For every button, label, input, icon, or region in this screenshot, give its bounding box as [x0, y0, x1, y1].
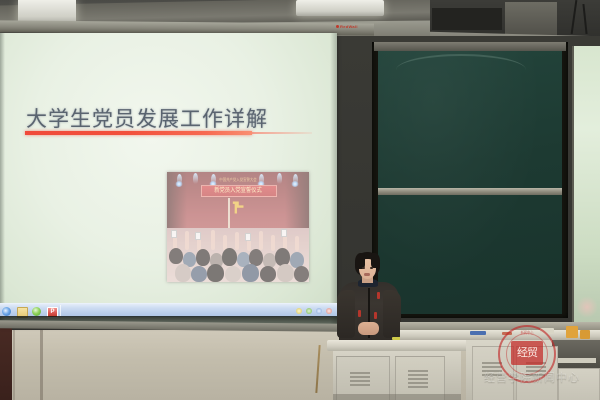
slide-photo: 中国共产党入党宣誓大会 新党员入党宣誓仪式: [167, 172, 309, 282]
screen-brand-logo: RedWall: [336, 24, 358, 29]
presenter-arm-left: [337, 290, 355, 338]
media-icon: [32, 307, 41, 316]
photo-banner-top-text: 中国共产党入党宣誓大会: [206, 177, 271, 183]
podium-floor-shadow: [333, 394, 461, 400]
lecture-hall-photo: RedWall 大学生党员发展工作详解 中国共产党入党宣誓大会 新党员入党宣誓仪…: [0, 0, 600, 400]
watermark-text: 经营学院新闻中心: [476, 369, 588, 385]
stage-light-glow: [291, 181, 299, 187]
chalkboard: [378, 50, 562, 314]
desk-object-yellow-box: [566, 326, 578, 338]
screen-edge-right: [330, 33, 337, 326]
presenter-jacket-accent: [377, 292, 380, 299]
counter-shelf-item: [556, 358, 596, 363]
slide-title: 大学生党员发展工作详解: [26, 103, 268, 133]
ceiling-vent: [432, 8, 502, 30]
presenter-eye: [362, 267, 365, 269]
desk-object-blue: [470, 331, 486, 335]
taskbar-separator: [60, 305, 61, 316]
secondary-screen: [572, 46, 600, 322]
stage-light-glow: [175, 181, 183, 187]
wall-seam: [40, 330, 43, 400]
presenter-hands: [358, 322, 379, 335]
photo-crowd: [167, 228, 309, 282]
browser-icon: [2, 307, 11, 316]
watermark-seal-arc-text: 新闻中心: [509, 330, 544, 336]
slide-title-underline-tail: [252, 132, 312, 134]
presenter-mouth: [364, 273, 370, 276]
presenter-jacket-accent: [358, 310, 361, 317]
network-icon: [296, 308, 302, 314]
desktop-taskbar: P: [0, 303, 337, 317]
screen-edge-left: [0, 33, 5, 326]
slide-title-underline: [25, 131, 252, 135]
stage-light: [277, 173, 282, 184]
presenter-jacket-accent: [374, 312, 377, 319]
podium-top-surface: [327, 340, 469, 351]
presenter-hair-front: [371, 253, 380, 268]
secondary-screen-glow: [576, 296, 598, 318]
counter-open-shelf: [552, 340, 600, 368]
input-method-icon: [326, 308, 332, 314]
flag-pole: [228, 198, 230, 228]
chalkboard-top-trim: [374, 42, 566, 51]
desk-object-yellow-box: [580, 330, 590, 339]
ceiling-lamp-center: [296, 0, 384, 16]
wall-seam: [13, 330, 15, 400]
photo-banner-text: 新党员入党宣誓仪式: [206, 186, 269, 195]
watermark-seal-label: 经贸: [511, 341, 543, 365]
stage-light: [193, 173, 198, 184]
volume-icon: [306, 308, 312, 314]
presenter-arm-right: [383, 290, 401, 338]
chalkboard-rail: [378, 188, 562, 195]
battery-icon: [316, 308, 322, 314]
wall-left-trim: [0, 318, 12, 400]
presenter-eye: [370, 267, 373, 269]
